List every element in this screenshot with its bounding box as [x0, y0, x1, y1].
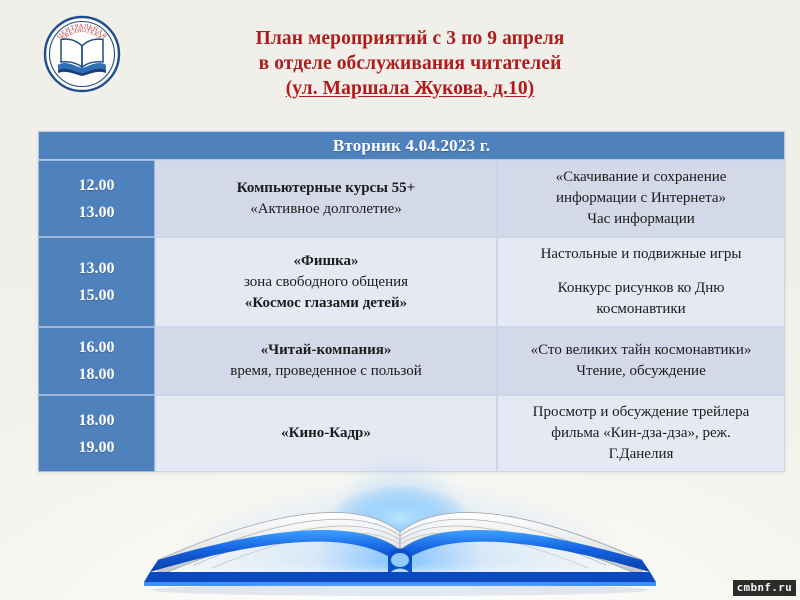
time-start: 13.00: [47, 255, 146, 282]
time-start: 16.00: [47, 334, 146, 361]
description-line: Чтение, обсуждение: [506, 361, 776, 382]
title-line-3-address: (ул. Маршала Жукова, д.10): [150, 76, 670, 101]
site-watermark: cmbnf.ru: [733, 580, 796, 596]
event-cell: «Фишка» зона свободного общения «Космос …: [155, 237, 497, 327]
table-row: 16.00 18.00 «Читай-компания» время, пров…: [38, 327, 785, 395]
time-end: 15.00: [47, 282, 146, 309]
description-line: Час информации: [506, 209, 776, 230]
event-cell: «Читай-компания» время, проведенное с по…: [155, 327, 497, 395]
description-cell: «Сто великих тайн космонавтики» Чтение, …: [497, 327, 785, 395]
description-line: космонавтики: [506, 299, 776, 320]
description-line: «Скачивание и сохранение: [506, 167, 776, 188]
event-title: «Фишка»: [164, 251, 488, 272]
time-cell: 13.00 15.00: [38, 237, 155, 327]
table-row: 13.00 15.00 «Фишка» зона свободного обще…: [38, 237, 785, 327]
description-cell: Просмотр и обсуждение трейлера фильма «К…: [497, 395, 785, 472]
time-cell: 16.00 18.00: [38, 327, 155, 395]
description-line: Просмотр и обсуждение трейлера: [506, 402, 776, 423]
day-header-cell: Вторник 4.04.2023 г.: [38, 131, 785, 160]
time-cell: 12.00 13.00: [38, 160, 155, 237]
emblem-icon: ЦЕНТРАЛЬНАЯ БИБЛИОТЕКА: [38, 10, 126, 98]
time-start: 18.00: [47, 407, 146, 434]
description-line: Конкурс рисунков ко Дню: [506, 278, 776, 299]
library-emblem-logo: ЦЕНТРАЛЬНАЯ БИБЛИОТЕКА: [38, 10, 126, 98]
time-end: 19.00: [47, 434, 146, 461]
table-header-row: Вторник 4.04.2023 г.: [38, 131, 785, 160]
description-cell: Настольные и подвижные игры Конкурс рису…: [497, 237, 785, 327]
title-line-1: План мероприятий с 3 по 9 апреля: [150, 26, 670, 51]
time-end: 13.00: [47, 199, 146, 226]
event-title: «Читай-компания»: [164, 340, 488, 361]
description-line: «Сто великих тайн космонавтики»: [506, 340, 776, 361]
event-cell: «Кино-Кадр»: [155, 395, 497, 472]
event-title: «Кино-Кадр»: [164, 423, 488, 444]
description-line: Г.Данелия: [506, 444, 776, 465]
event-subtitle: зона свободного общения: [164, 272, 488, 293]
time-start: 12.00: [47, 172, 146, 199]
description-cell: «Скачивание и сохранение информации с Ин…: [497, 160, 785, 237]
poster-title: План мероприятий с 3 по 9 апреля в отдел…: [150, 26, 670, 101]
time-cell: 18.00 19.00: [38, 395, 155, 472]
open-book-icon: [120, 472, 680, 598]
description-line: информации с Интернета»: [506, 188, 776, 209]
title-line-2: в отделе обслуживания читателей: [150, 51, 670, 76]
event-subtitle: «Активное долголетие»: [164, 199, 488, 220]
schedule-table: Вторник 4.04.2023 г. 12.00 13.00 Компьют…: [38, 131, 785, 472]
time-end: 18.00: [47, 361, 146, 388]
poster-canvas: ЦЕНТРАЛЬНАЯ БИБЛИОТЕКА План мероприятий …: [0, 0, 800, 600]
event-title: Компьютерные курсы 55+: [164, 178, 488, 199]
table-row: 18.00 19.00 «Кино-Кадр» Просмотр и обсуж…: [38, 395, 785, 472]
description-line: фильма «Кин-дза-дза», реж.: [506, 423, 776, 444]
description-spacer: [506, 265, 776, 278]
description-line: Настольные и подвижные игры: [506, 244, 776, 265]
event-subtitle: время, проведенное с пользой: [164, 361, 488, 382]
event-title-secondary: «Космос глазами детей»: [164, 293, 488, 314]
event-cell: Компьютерные курсы 55+ «Активное долголе…: [155, 160, 497, 237]
table-row: 12.00 13.00 Компьютерные курсы 55+ «Акти…: [38, 160, 785, 237]
open-book-illustration: [0, 450, 800, 600]
